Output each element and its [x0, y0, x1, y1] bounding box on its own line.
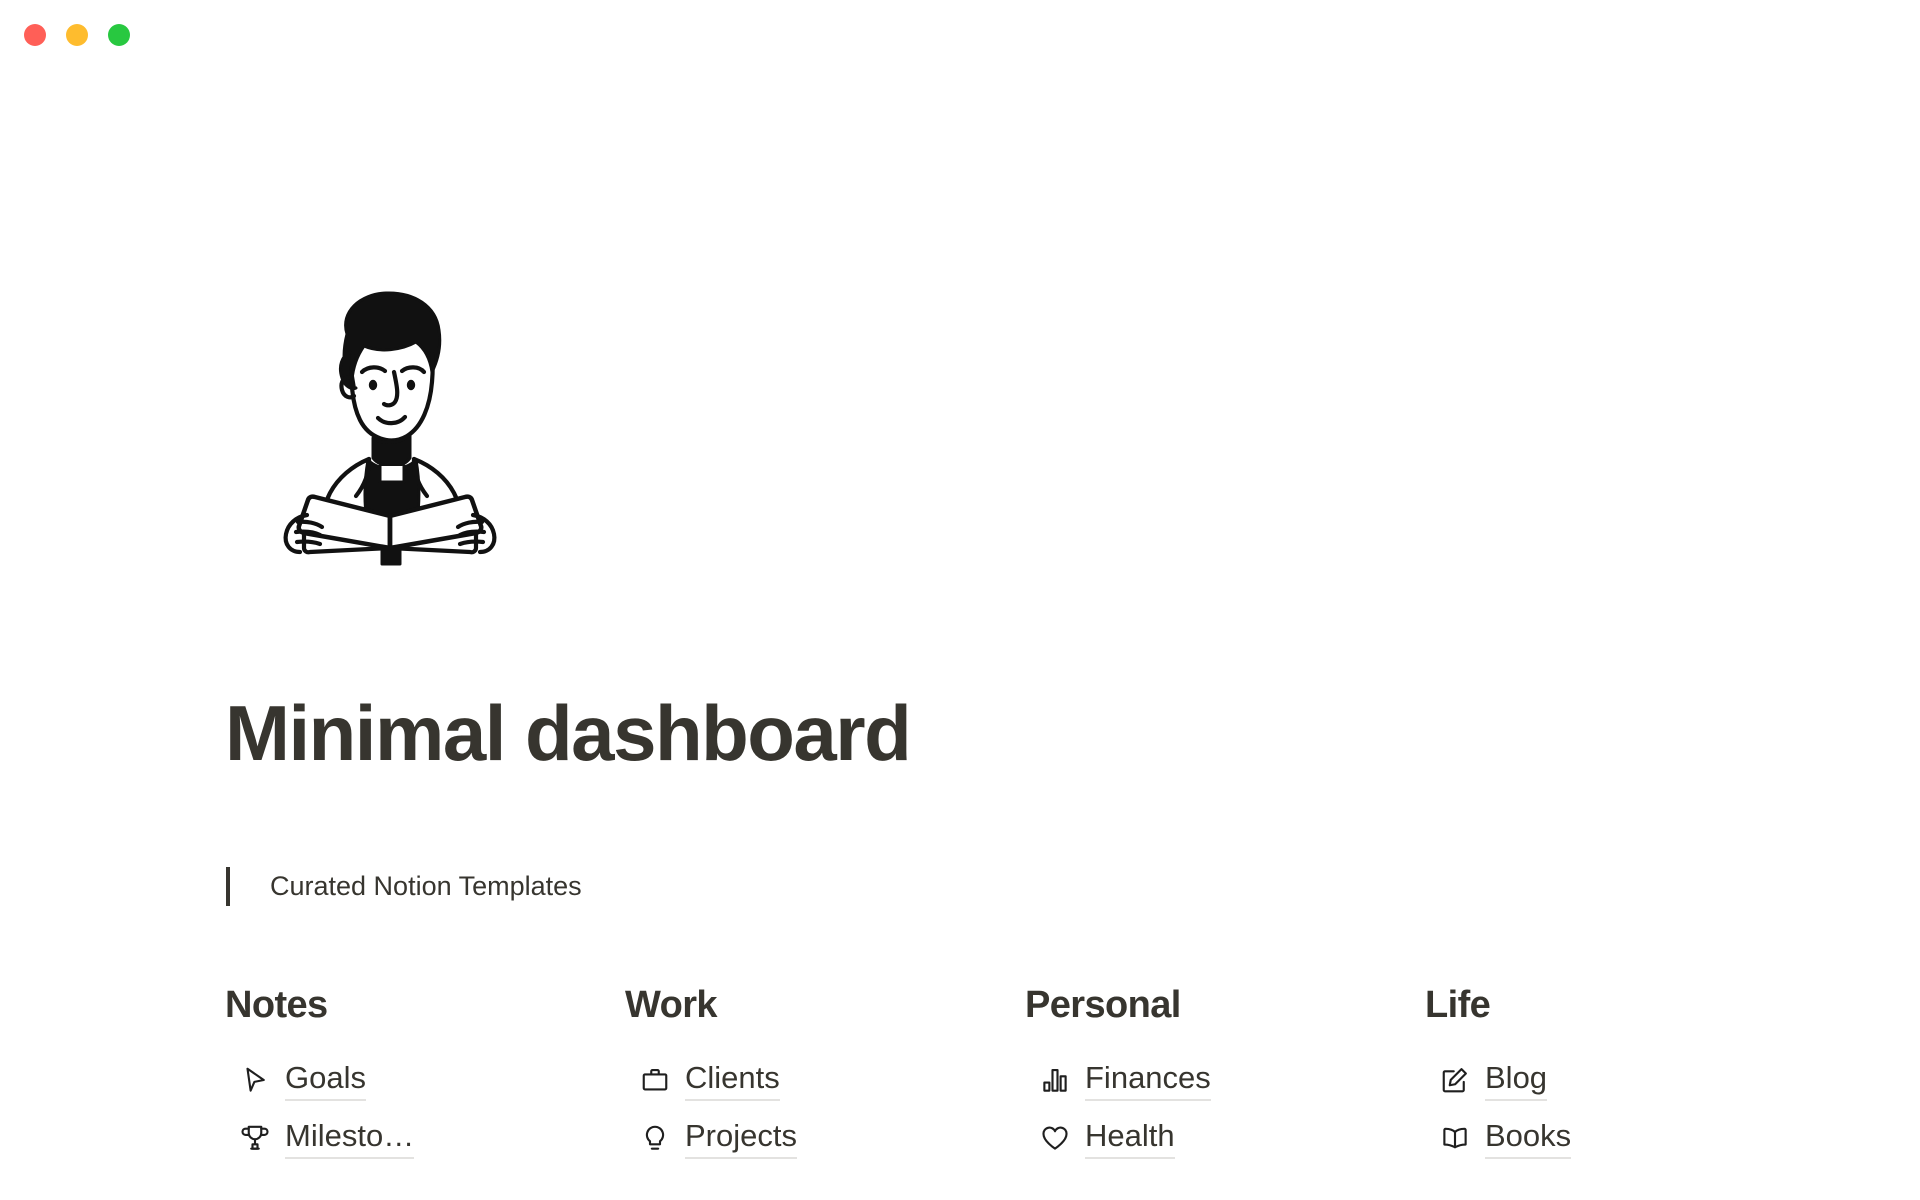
link-row[interactable]: Books [1425, 1109, 1825, 1167]
open-book-icon [1439, 1122, 1471, 1154]
heart-icon [1039, 1122, 1071, 1154]
column-work: Work Clients [625, 985, 1025, 1167]
page-content: Minimal dashboard Curated Notion Templat… [0, 0, 1920, 1200]
quote-text: Curated Notion Templates [270, 867, 582, 906]
link-label[interactable]: Projects [685, 1117, 797, 1159]
column-life: Life Blog [1425, 985, 1825, 1167]
quote-accent-bar [226, 867, 230, 906]
app-window: Minimal dashboard Curated Notion Templat… [0, 0, 1920, 1200]
link-row[interactable]: Goals [225, 1051, 625, 1109]
link-row[interactable]: Clients [625, 1051, 1025, 1109]
link-label[interactable]: Books [1485, 1117, 1571, 1159]
lightbulb-icon [639, 1122, 671, 1154]
pencil-square-icon [1439, 1064, 1471, 1096]
column-title: Life [1425, 985, 1825, 1027]
column-title: Personal [1025, 985, 1425, 1027]
column-title: Notes [225, 985, 625, 1027]
quote-callout: Curated Notion Templates [226, 867, 582, 906]
link-columns: Notes Goals [225, 985, 1865, 1167]
briefcase-icon [639, 1064, 671, 1096]
link-label[interactable]: Finances [1085, 1059, 1211, 1101]
link-label[interactable]: Goals [285, 1059, 366, 1101]
link-label[interactable]: Milesto… [285, 1117, 414, 1159]
link-row[interactable]: Blog [1425, 1051, 1825, 1109]
link-row[interactable]: Projects [625, 1109, 1025, 1167]
page-title: Minimal dashboard [225, 693, 910, 775]
column-title: Work [625, 985, 1025, 1027]
link-row[interactable]: Milesto… [225, 1109, 625, 1167]
link-label[interactable]: Clients [685, 1059, 780, 1101]
link-label[interactable]: Health [1085, 1117, 1175, 1159]
cursor-arrow-icon [239, 1064, 271, 1096]
link-row[interactable]: Health [1025, 1109, 1425, 1167]
link-label[interactable]: Blog [1485, 1059, 1547, 1101]
bar-chart-icon [1039, 1064, 1071, 1096]
column-notes: Notes Goals [225, 985, 625, 1167]
trophy-icon [239, 1122, 271, 1154]
person-reading-book-illustration [252, 286, 520, 574]
column-personal: Personal Finances [1025, 985, 1425, 1167]
link-row[interactable]: Finances [1025, 1051, 1425, 1109]
